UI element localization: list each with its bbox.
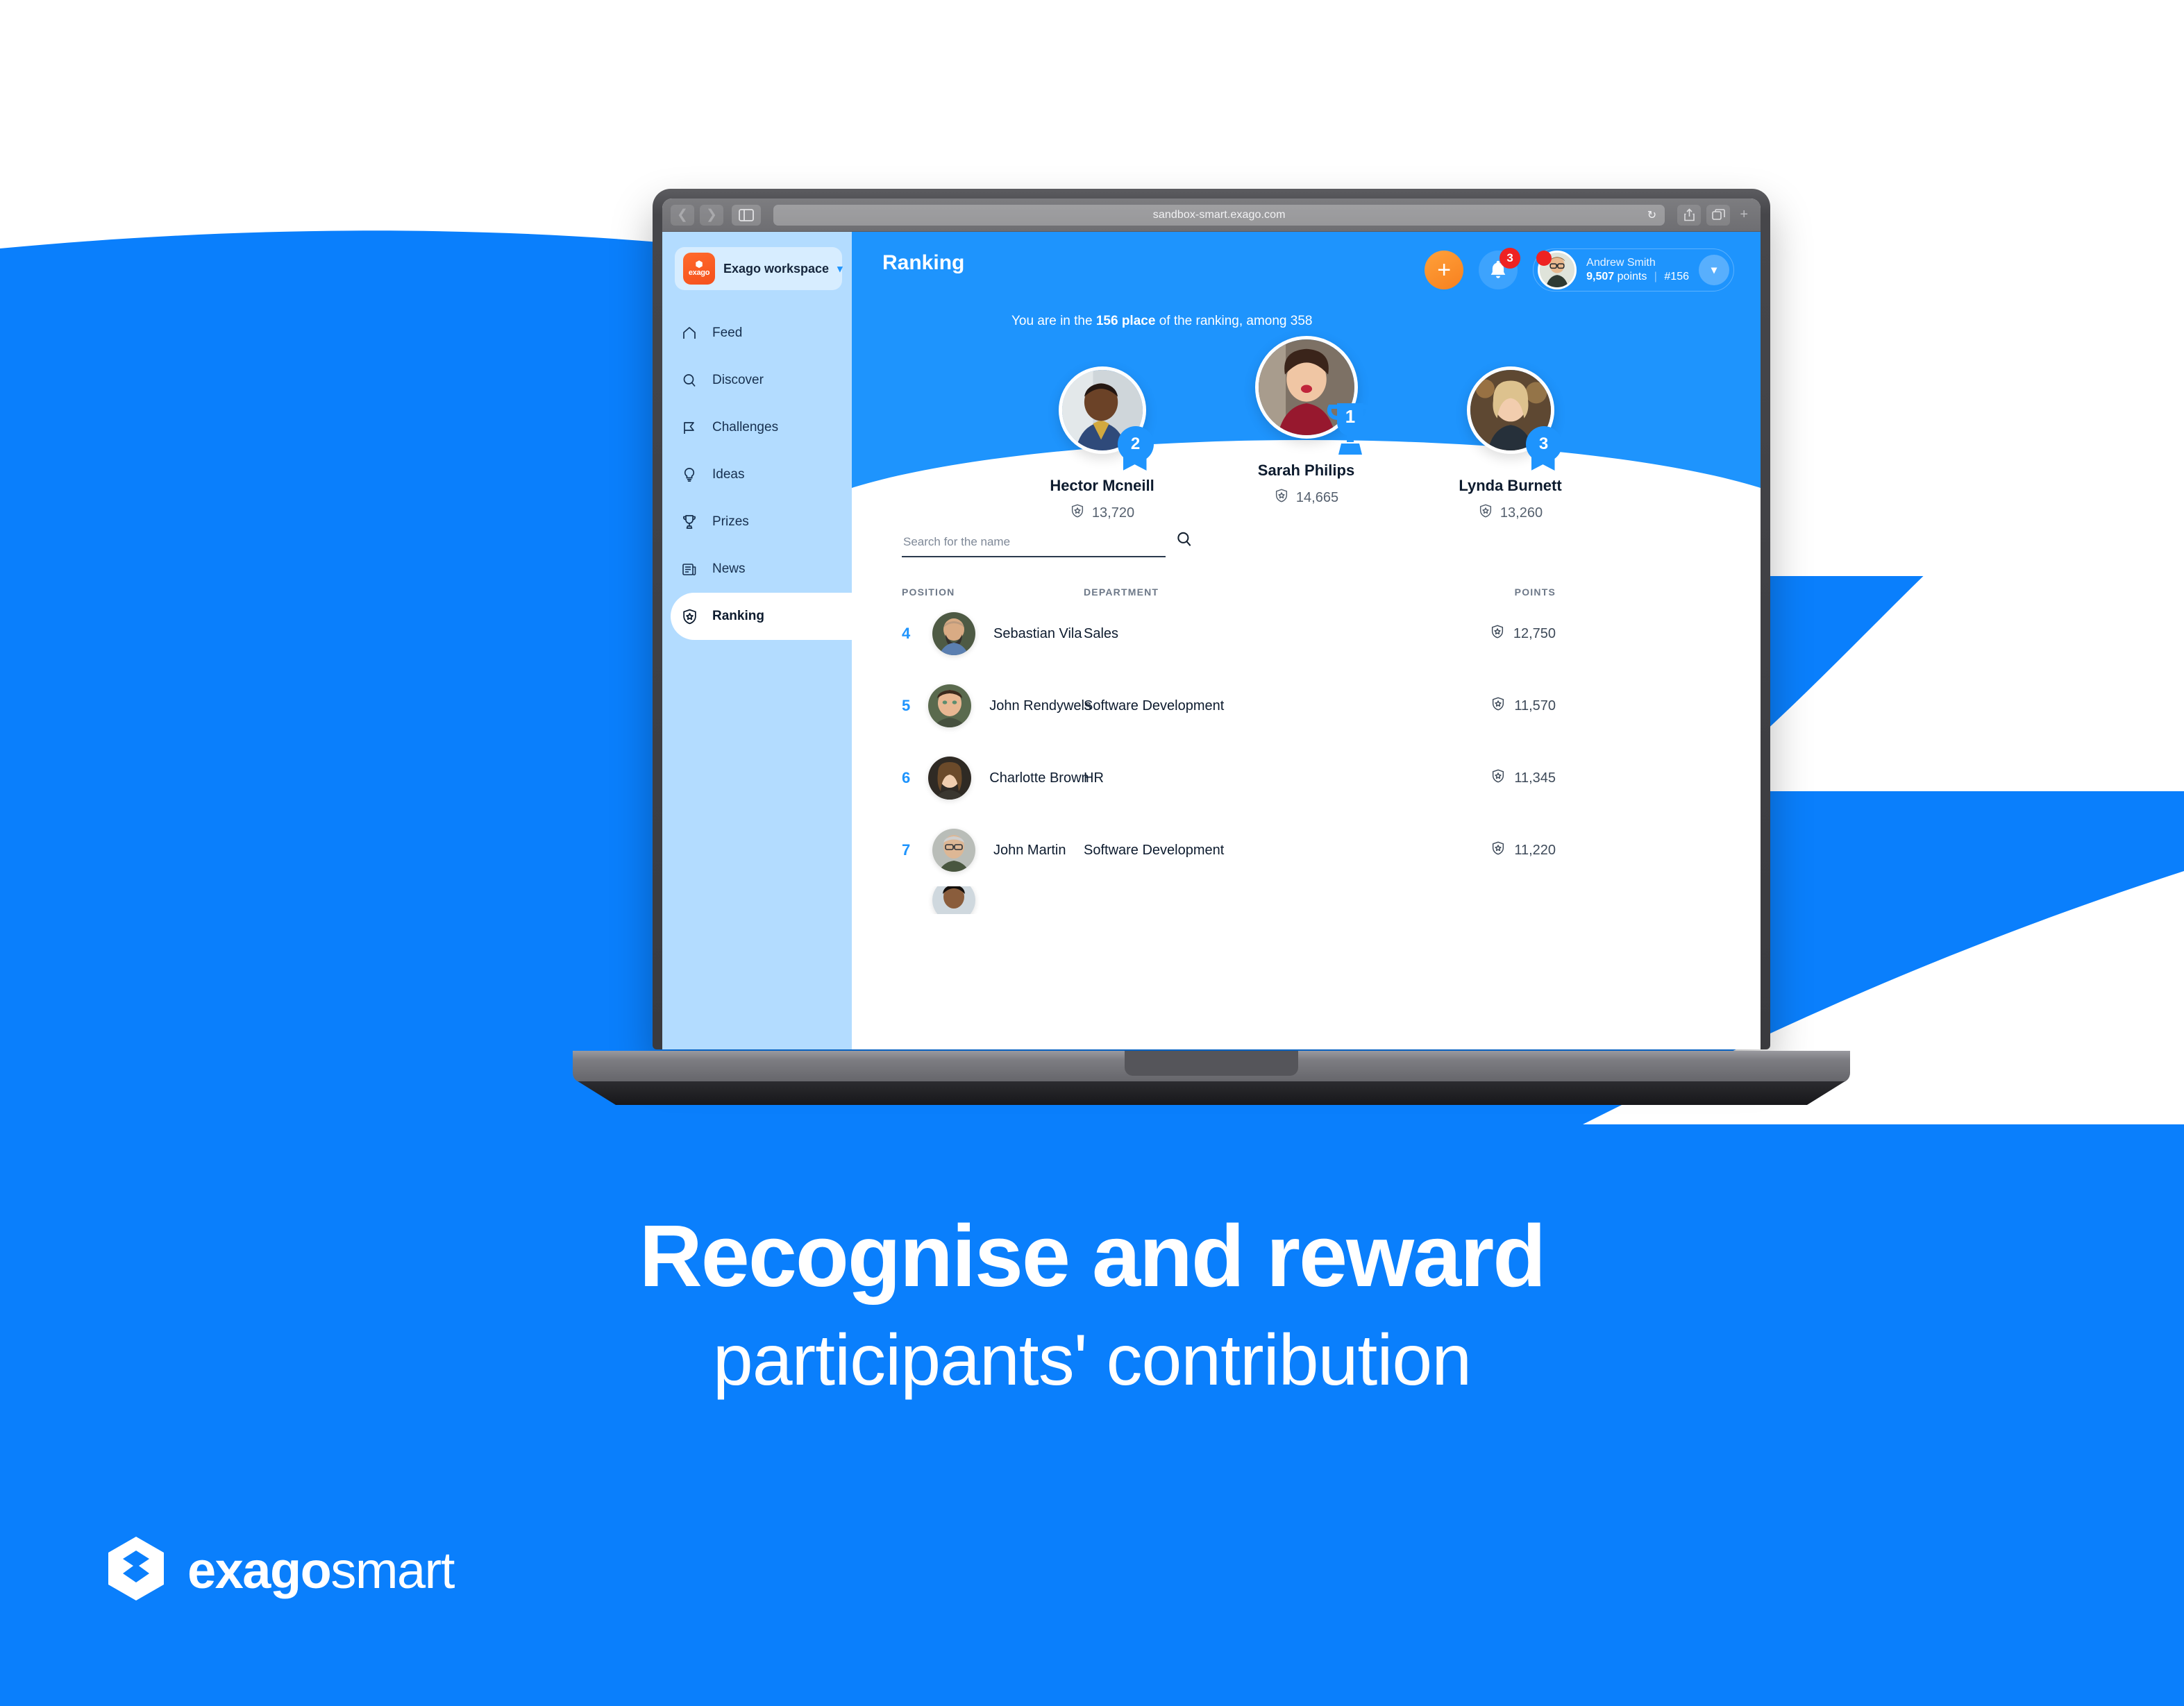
- avatar: [928, 684, 971, 727]
- sidebar-item-label: Discover: [712, 373, 764, 388]
- row-name: Charlotte Brown: [989, 770, 1089, 786]
- table-row[interactable]: 4 Sebas: [902, 598, 1711, 670]
- row-department: Sales: [1084, 626, 1417, 642]
- laptop-notch: [1125, 1051, 1298, 1076]
- column-header-points: POINTS: [1417, 586, 1556, 598]
- podium-rank: 2: [1118, 426, 1154, 462]
- search-row: [902, 530, 1711, 557]
- podium-name: Hector Mcneill: [1030, 477, 1175, 495]
- url-text: sandbox-smart.exago.com: [1153, 209, 1286, 221]
- sidebar-item-prizes[interactable]: Prizes: [662, 498, 852, 546]
- sidebar-item-label: Ranking: [712, 609, 764, 624]
- avatar: [932, 829, 975, 872]
- exago-app: ⬢ exago Exago workspace ▾ Feed: [662, 232, 1761, 1049]
- row-name: Sebastian Vila: [993, 626, 1082, 642]
- promo-headline: Recognise and reward participants' contr…: [0, 1209, 2184, 1401]
- row-department: Software Development: [1084, 698, 1417, 714]
- table-row-partial[interactable]: [902, 886, 1711, 914]
- ranking-note-prefix: You are in the: [1011, 314, 1096, 328]
- table-row[interactable]: 5: [902, 670, 1711, 742]
- app-sidebar: ⬢ exago Exago workspace ▾ Feed: [662, 232, 852, 1049]
- ribbon-icon: 3: [1525, 426, 1563, 469]
- sidebar-item-label: News: [712, 561, 746, 577]
- lightbulb-icon: [680, 466, 698, 484]
- hero-region: Ranking +: [852, 232, 1761, 520]
- avatar: [928, 757, 971, 800]
- shield-star-icon: [1274, 488, 1289, 507]
- sidebar-item-discover[interactable]: Discover: [662, 357, 852, 404]
- avatar: [932, 886, 975, 914]
- row-points: 11,345: [1514, 770, 1556, 786]
- user-menu[interactable]: Andrew Smith 9,507 points | #156 ▾: [1533, 248, 1734, 292]
- sidebar-toggle-icon[interactable]: [732, 205, 761, 226]
- podium-name: Lynda Burnett: [1438, 477, 1584, 495]
- search-input[interactable]: [902, 531, 1166, 557]
- chevron-down-icon: ▾: [837, 262, 843, 275]
- podium: 2 Hector Mcneill: [852, 336, 1761, 523]
- podium-points: 13,720: [1092, 505, 1134, 521]
- shield-star-icon: [1070, 503, 1085, 523]
- column-header-department: DEPARTMENT: [1084, 586, 1417, 598]
- row-position: 6: [902, 769, 910, 787]
- page-title: Ranking: [882, 251, 964, 275]
- notification-badge: 3: [1500, 248, 1520, 269]
- sidebar-item-challenges[interactable]: Challenges: [662, 404, 852, 451]
- main-content: Ranking +: [852, 232, 1761, 1049]
- shield-star-icon: [1490, 624, 1505, 643]
- avatar: [932, 612, 975, 655]
- laptop-lid: ❮ ❯ sandbox-smart.exago.com ↻: [653, 189, 1770, 1049]
- user-name: Andrew Smith: [1586, 256, 1689, 270]
- podium-item-3[interactable]: 3 Lynda Burnett: [1438, 366, 1584, 523]
- row-points: 11,570: [1514, 698, 1556, 714]
- podium-points: 13,260: [1500, 505, 1543, 521]
- notifications-button[interactable]: 3: [1479, 251, 1518, 289]
- row-points: 11,220: [1514, 843, 1556, 859]
- tabs-icon[interactable]: [1706, 205, 1730, 226]
- user-rank: #156: [1664, 271, 1689, 282]
- laptop-screen: ❮ ❯ sandbox-smart.exago.com ↻: [662, 199, 1761, 1049]
- sidebar-item-ranking[interactable]: Ranking: [671, 593, 852, 640]
- ribbon-icon: 2: [1117, 426, 1154, 469]
- trophy-icon: 1: [1325, 399, 1376, 462]
- row-department: HR: [1084, 770, 1417, 786]
- workspace-switcher[interactable]: ⬢ exago Exago workspace ▾: [675, 247, 842, 290]
- row-points: 12,750: [1513, 626, 1556, 642]
- podium-rank: 3: [1526, 426, 1562, 462]
- sidebar-item-label: Prizes: [712, 514, 749, 530]
- ranking-note: You are in the 156 place of the ranking,…: [1011, 314, 1312, 329]
- table-row[interactable]: 6 Charlotte Brown: [902, 742, 1711, 814]
- headline-line-1: Recognise and reward: [0, 1209, 2184, 1303]
- brand-lockup: exagosmart: [106, 1535, 454, 1605]
- podium-name: Sarah Philips: [1234, 462, 1379, 480]
- brand-name-light: smart: [330, 1542, 454, 1599]
- ranking-note-place: 156 place: [1096, 314, 1156, 328]
- table-header: POSITION DEPARTMENT POINTS: [902, 586, 1711, 598]
- search-icon[interactable]: [1175, 530, 1193, 557]
- laptop-mockup: ❮ ❯ sandbox-smart.exago.com ↻: [535, 189, 1888, 1105]
- flag-icon: [680, 419, 698, 437]
- podium-rank: 1: [1345, 406, 1354, 427]
- shield-star-icon: [680, 607, 698, 625]
- row-department: Software Development: [1084, 843, 1417, 859]
- workspace-name: Exago workspace: [723, 262, 829, 276]
- user-points: 9,507: [1586, 271, 1614, 282]
- back-button[interactable]: ❮: [671, 205, 694, 226]
- exago-hexagon-logo-icon: [106, 1535, 167, 1605]
- search-icon: [680, 371, 698, 389]
- exago-logo-text: exago: [689, 269, 709, 277]
- podium-item-2[interactable]: 2 Hector Mcneill: [1030, 366, 1175, 523]
- shield-star-icon: [1478, 503, 1493, 523]
- ranking-note-suffix: of the ranking, among 358: [1155, 314, 1312, 328]
- row-position: 5: [902, 697, 910, 715]
- shield-star-icon: [1490, 841, 1506, 860]
- reload-icon[interactable]: ↻: [1647, 208, 1657, 222]
- url-bar[interactable]: sandbox-smart.exago.com ↻: [773, 205, 1665, 226]
- sidebar-item-feed[interactable]: Feed: [662, 310, 852, 357]
- row-position: 7: [902, 841, 914, 859]
- plus-icon: +: [1437, 258, 1451, 282]
- column-header-position: POSITION: [902, 586, 1084, 598]
- sidebar-item-news[interactable]: News: [662, 546, 852, 593]
- exago-logo-icon: ⬢ exago: [683, 253, 715, 285]
- shield-star-icon: [1490, 696, 1506, 716]
- sidebar-item-label: Feed: [712, 326, 742, 341]
- chevron-down-icon[interactable]: ▾: [1699, 255, 1729, 285]
- table-row[interactable]: 7: [902, 814, 1711, 886]
- row-name: John Rendywels: [989, 698, 1091, 714]
- podium-item-1[interactable]: 1 Sarah Philips: [1234, 336, 1379, 507]
- laptop-base: [535, 1051, 1888, 1105]
- shield-star-icon: [1490, 768, 1506, 788]
- user-points-label: points: [1618, 271, 1647, 282]
- new-tab-icon[interactable]: +: [1736, 207, 1752, 223]
- forward-button[interactable]: ❯: [700, 205, 723, 226]
- trophy-icon: [680, 513, 698, 531]
- sidebar-item-label: Challenges: [712, 420, 778, 435]
- row-name: John Martin: [993, 843, 1066, 859]
- home-icon: [680, 324, 698, 342]
- browser-chrome: ❮ ❯ sandbox-smart.exago.com ↻: [662, 199, 1761, 232]
- brand-name-bold: exago: [187, 1542, 330, 1599]
- share-icon[interactable]: [1677, 205, 1701, 226]
- headline-line-2: participants' contribution: [0, 1320, 2184, 1401]
- ranking-list: POSITION DEPARTMENT POINTS 4: [852, 530, 1761, 1049]
- podium-points: 14,665: [1296, 490, 1338, 506]
- header-actions: + 3: [1425, 248, 1734, 292]
- add-button[interactable]: +: [1425, 251, 1463, 289]
- newspaper-icon: [680, 560, 698, 578]
- status-dot: [1536, 251, 1552, 266]
- sidebar-item-label: Ideas: [712, 467, 744, 482]
- sidebar-item-ideas[interactable]: Ideas: [662, 451, 852, 498]
- row-position: 4: [902, 625, 914, 643]
